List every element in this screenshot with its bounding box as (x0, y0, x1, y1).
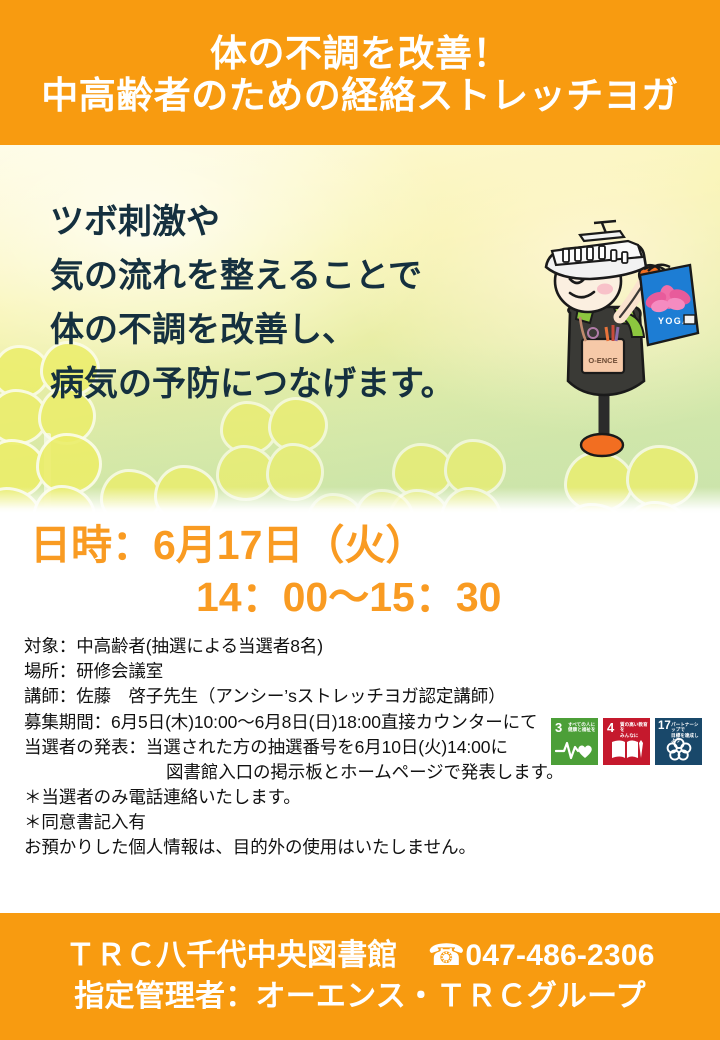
event-detail-line: ＊当選者のみ電話連絡いたします。 (24, 785, 720, 810)
hero-bottom-fade (0, 487, 720, 513)
sdg-caption: すべての人に 健康と福祉を (568, 722, 596, 733)
poster-footer-band: ＴＲＣ八千代中央図書館 ☎047-486-2306 指定管理者：オーエンス・ＴＲ… (0, 913, 720, 1040)
mascot-pen (616, 327, 618, 341)
poster-title-line-2: 中高齢者のための経絡ストレッチヨガ (41, 75, 679, 116)
event-detail-line: 対象：中高齢者(抽選による当選者8名) (24, 634, 720, 659)
event-time-line: 14：00～15：30 (0, 571, 720, 623)
sdg-icon-row: 3すべての人に 健康と福祉を4質の高い教育を みんなに17パートナーシップで 目… (551, 718, 702, 765)
bag-tag (684, 315, 695, 324)
event-details-block: 対象：中高齢者(抽選による当選者8名)場所：研修会議室講師：佐藤 啓子先生（アン… (0, 626, 720, 861)
flower-blossom-icon (300, 489, 420, 513)
mascot-foot (581, 434, 623, 456)
svg-text:気の流れを整えることで: 気の流れを整えることで (50, 257, 422, 295)
open-book-pencil-icon (610, 737, 644, 761)
hero-message-text: ツボ刺激や 気の流れを整えることで 体の不調を改善し、 病気の予防につなげます。 (40, 195, 540, 445)
event-detail-line: 場所：研修会議室 (24, 659, 720, 684)
sdg-number: 3 (555, 721, 562, 734)
svg-text:病気の予防につなげます。: 病気の予防につなげます。 (50, 365, 455, 403)
mascot-cheek-blush (597, 284, 613, 295)
svg-text:体の不調を改善し、: 体の不調を改善し、 (50, 311, 356, 349)
sdg-badge-3: 3すべての人に 健康と福祉を (551, 718, 598, 765)
library-mascot-character: O-ENCE (508, 205, 708, 475)
interlocking-rings-icon (666, 737, 692, 761)
sdg-number: 4 (607, 721, 614, 734)
sdg-badge-17: 17パートナーシップで 目標を達成しよう (655, 718, 702, 765)
operator-name: 指定管理者：オーエンス・ＴＲＣグループ (74, 977, 645, 1017)
interlocking-rings-icon (655, 736, 702, 762)
flower-blossom-icon (96, 463, 224, 513)
event-datetime-block: 日時：6月17日（火） 14：00～15：30 (0, 513, 720, 626)
heartbeat-heart-icon (551, 736, 598, 762)
sdg-number: 17 (658, 721, 671, 733)
library-building-hat-icon (546, 221, 646, 279)
poster-title-line-1: 体の不調を改善！ (210, 33, 510, 74)
poster-header-band: 体の不調を改善！ 中高齢者のための経絡ストレッチヨガ (0, 0, 720, 145)
hero-image-band: ツボ刺激や 気の流れを整えることで 体の不調を改善し、 病気の予防につなげます。… (0, 145, 720, 513)
event-detail-line: お預かりした個人情報は、目的外の使用はいたしません。 (24, 835, 720, 860)
heartbeat-heart-icon (555, 738, 595, 760)
flower-blossom-icon (386, 439, 512, 513)
library-name-and-phone: ＴＲＣ八千代中央図書館 ☎047-486-2306 (65, 936, 654, 976)
yoga-tote-bag-icon: YOGA (640, 265, 698, 345)
sdg-badge-4: 4質の高い教育を みんなに (603, 718, 650, 765)
event-date-line: 日時：6月17日（火） (0, 519, 720, 571)
mascot-pen (606, 327, 608, 341)
event-detail-line: 講師：佐藤 啓子先生（アンシー’sストレッチヨガ認定講師） (24, 684, 720, 709)
event-detail-line: ＊同意書記入有 (24, 810, 720, 835)
svg-text:ツボ刺激や: ツボ刺激や (50, 203, 220, 241)
mascot-pouch-label: O-ENCE (588, 356, 617, 365)
open-book-pencil-icon (603, 736, 650, 762)
